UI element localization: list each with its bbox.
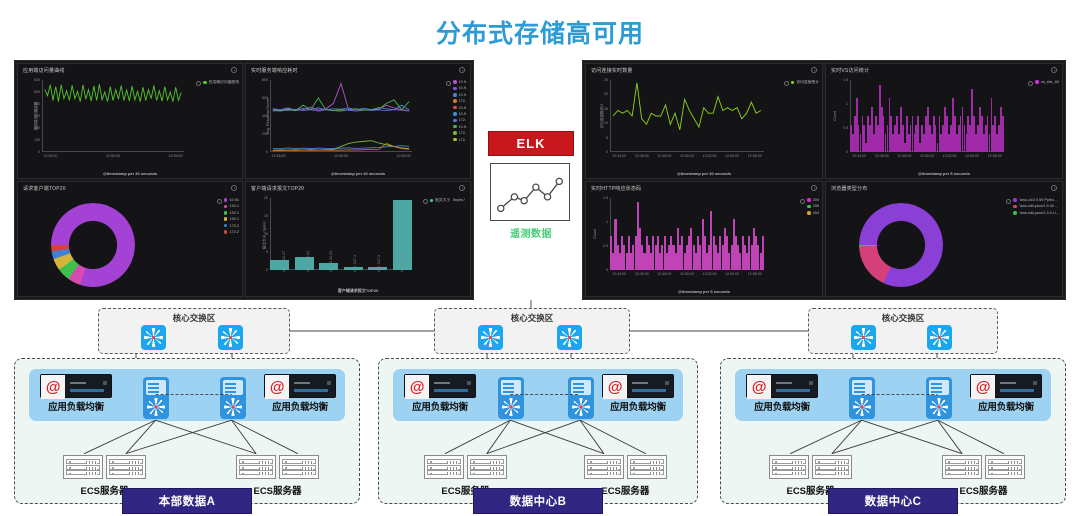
panel-response-time[interactable]: 实时服务端响应耗时 Avg. Response/Server0200400600… xyxy=(245,63,471,179)
datacenter-switch-icon[interactable] xyxy=(849,377,875,419)
x-axis-label: 客户端请求报文TOP20 xyxy=(338,288,379,294)
panel-title: 浏览器类型分布 xyxy=(831,185,867,192)
legend-item[interactable]: 172. xyxy=(453,138,467,142)
legend-swatch xyxy=(791,81,795,85)
gear-icon[interactable] xyxy=(1051,67,1057,73)
y-tick: 25 xyxy=(604,78,608,82)
bar[interactable] xyxy=(295,257,314,270)
load-balancer-label: 应用负载均衡 xyxy=(595,399,681,413)
load-balancer-band: @应用负载均衡@应用负载均衡 xyxy=(735,369,1051,421)
legend-item[interactable]: 192.1 xyxy=(224,204,239,208)
server-rack-icon xyxy=(985,455,1025,479)
x-tick: 12:54:00 xyxy=(965,154,979,158)
legend-swatch xyxy=(224,217,228,221)
legend: 访问连接统计 xyxy=(791,80,819,85)
x-tick: 12:50:00 xyxy=(920,154,934,158)
panel-title: 实时服务端响应耗时 xyxy=(251,67,298,74)
x-tick: 12:54:00 xyxy=(725,272,739,276)
y-tick: 0 xyxy=(606,268,608,272)
load-balancer-band: @应用负载均衡@应用负载均衡 xyxy=(29,369,345,421)
server-rack-icon xyxy=(584,455,624,479)
telemetry-label: 遥测数据 xyxy=(488,225,574,240)
x-tick: 12:44:00 xyxy=(852,154,866,158)
legend-label: 10.9. xyxy=(459,112,467,116)
x-tick: 12:55:00 xyxy=(168,154,182,158)
donut-ring[interactable] xyxy=(859,203,943,287)
panel-connection-count[interactable]: 访问连接实时数量 访问连接数统计051015202512:44:0012:46:… xyxy=(585,63,823,179)
x-tick: 12:50:00 xyxy=(680,272,694,276)
x-tick: 12:56:00 xyxy=(748,154,762,158)
load-balancer-band: @应用负载均衡@应用负载均衡 xyxy=(393,369,683,421)
load-balancer-label: 应用负载均衡 xyxy=(33,399,119,413)
x-tick: 12:45:00 xyxy=(272,154,286,158)
elk-node: ELK 遥测数据 xyxy=(488,131,574,240)
core-zone-title: 核心交换区 xyxy=(435,312,629,324)
y-tick: 10 xyxy=(264,232,268,236)
server-rack-icon xyxy=(424,455,464,479)
core-switch-icon[interactable] xyxy=(218,325,243,350)
x-tick: 12:48:00 xyxy=(657,154,671,158)
x-tick: 12:50:00 xyxy=(106,154,120,158)
server-rack-icon xyxy=(769,455,809,479)
y-tick: 5 xyxy=(266,250,268,254)
legend-swatch xyxy=(807,205,811,209)
load-balancer-node[interactable]: @应用负载均衡 xyxy=(397,374,483,413)
legend-swatch xyxy=(203,81,207,85)
plot-area: Count00.511.512:44:0012:46:0012:48:0012:… xyxy=(610,198,764,270)
core-switch-icon[interactable] xyxy=(141,325,166,350)
legend-item[interactable]: 206 xyxy=(807,204,819,208)
network-diagram: 核心交换区核心交换区核心交换区@应用负载均衡@应用负载均衡ECS服务器ECS服务… xyxy=(0,300,1080,516)
donut-chart xyxy=(836,200,966,290)
core-switch-zone-1: 核心交换区 xyxy=(98,308,290,354)
gear-icon[interactable] xyxy=(811,185,817,191)
y-tick: 1.5 xyxy=(843,78,848,82)
legend: "aws-cli/2.0.59 Pytho..."aws-sdk-java/1.… xyxy=(1013,198,1059,215)
legend-swatch xyxy=(453,99,457,103)
legend-item[interactable]: 172. xyxy=(453,99,467,103)
gear-icon[interactable] xyxy=(231,185,237,191)
legend-item[interactable]: 200 xyxy=(807,198,819,202)
x-tick: 12:52:00 xyxy=(703,272,717,276)
datacenter-switch-icon[interactable] xyxy=(220,377,246,419)
datacenter-switch-icon[interactable] xyxy=(498,377,524,419)
load-balancer-node[interactable]: @应用负载均衡 xyxy=(739,374,825,413)
y-tick: 200 xyxy=(34,126,40,130)
x-tick: 172. 247.3 xyxy=(377,255,381,272)
donut-ring[interactable] xyxy=(51,203,135,287)
legend-item[interactable]: 10.9. xyxy=(453,93,467,97)
server-rack-icon xyxy=(236,455,276,479)
load-balancer-icon: @ xyxy=(970,374,1042,398)
info-icon[interactable] xyxy=(784,81,789,86)
server-racks xyxy=(763,455,859,479)
legend-swatch xyxy=(453,112,457,116)
y-tick: 800 xyxy=(262,78,268,82)
legend-label: 192.1 xyxy=(229,217,239,221)
info-icon[interactable] xyxy=(1006,199,1011,204)
y-axis-label: Count xyxy=(593,229,597,239)
y-tick: 15 xyxy=(604,107,608,111)
panel-client-top20-donut[interactable]: 请求客户端TOP20 10.91192.1192.1192.1172.2172.… xyxy=(17,181,243,297)
legend-item[interactable]: 应用端访问量曲线 xyxy=(203,80,239,85)
datacenter-switch-icon[interactable] xyxy=(926,377,952,419)
y-tick: 1 xyxy=(606,220,608,224)
panel-title: 实时HTTP响应状态码 xyxy=(591,185,641,192)
x-tick: 12:46:00 xyxy=(635,154,649,158)
y-tick: 0.5 xyxy=(603,244,608,248)
panel-client-payload-top20[interactable]: 客户端请求报文TOP20 报文大小（bytes）05101520192.16 2… xyxy=(245,181,471,297)
load-balancer-icon: @ xyxy=(264,374,336,398)
info-icon[interactable] xyxy=(423,199,428,204)
elk-title: ELK xyxy=(488,131,574,156)
vendor-logo: @ xyxy=(747,375,771,399)
x-tick: 12:54:00 xyxy=(725,154,739,158)
legend-label: 10.9. xyxy=(459,86,467,90)
gear-icon[interactable] xyxy=(231,67,237,73)
datacenter-3: @应用负载均衡@应用负载均衡ECS服务器ECS服务器 xyxy=(720,358,1066,504)
server-rack-icon xyxy=(279,455,319,479)
legend-label: 172. xyxy=(459,131,466,135)
line-series xyxy=(42,80,184,152)
legend-label: vs_site_80 xyxy=(1041,80,1059,84)
vendor-logo: @ xyxy=(603,375,627,399)
core-switch-icon[interactable] xyxy=(478,325,503,350)
y-tick: 15 xyxy=(264,214,268,218)
y-tick: 0 xyxy=(266,268,268,272)
x-tick: 12:56:00 xyxy=(748,272,762,276)
legend-item[interactable]: vs_site_80 xyxy=(1035,80,1059,84)
legend-swatch xyxy=(224,230,228,234)
legend-label: 10.9. xyxy=(459,80,467,84)
load-balancer-label: 应用负载均衡 xyxy=(963,399,1049,413)
legend-label: 172. xyxy=(459,118,466,122)
info-icon[interactable] xyxy=(800,199,805,204)
y-tick: 0.5 xyxy=(843,126,848,130)
legend-label: 172.2 xyxy=(229,224,239,228)
x-axis-label: @timestamp per 30 seconds xyxy=(103,171,157,176)
legend-label: 172. xyxy=(459,99,466,103)
line-series xyxy=(610,80,764,152)
gear-icon[interactable] xyxy=(1051,185,1057,191)
panel-title: 访问连接实时数量 xyxy=(591,67,633,74)
core-switch-zone-2: 核心交换区 xyxy=(434,308,630,354)
load-balancer-icon: @ xyxy=(40,374,112,398)
legend-item[interactable]: 10.9. xyxy=(453,112,467,116)
panel-browser-type-donut[interactable]: 浏览器类型分布 "aws-cli/2.0.59 Pytho..."aws-sdk… xyxy=(825,181,1063,297)
y-tick: 400 xyxy=(34,102,40,106)
legend-item[interactable]: 报文大小（bytes） xyxy=(430,198,467,203)
legend: 应用端访问量曲线 xyxy=(203,80,239,85)
server-rack-icon xyxy=(63,455,103,479)
legend: 10.91192.1192.1192.1172.2172.2 xyxy=(224,198,239,234)
y-tick: 5 xyxy=(606,136,608,140)
legend: 报文大小（bytes） xyxy=(430,198,467,203)
datacenter-label: 数据中心C xyxy=(828,488,958,514)
y-tick: 0 xyxy=(606,150,608,154)
load-balancer-icon: @ xyxy=(602,374,674,398)
legend-item[interactable]: 10.9. xyxy=(453,106,467,110)
vendor-logo: @ xyxy=(265,375,289,399)
plot-area: Count00.511.512:44:0012:46:0012:48:0012:… xyxy=(850,80,1004,152)
datacenter-switch-icon[interactable] xyxy=(143,377,169,419)
x-tick: 12:55:00 xyxy=(396,154,410,158)
dashboard-left: 应用端访问量曲线 应用端访问量曲线010020030040050060012:4… xyxy=(14,60,474,300)
y-tick: 20 xyxy=(604,92,608,96)
y-tick: 20 xyxy=(264,196,268,200)
load-balancer-label: 应用负载均衡 xyxy=(397,399,483,413)
legend-label: 206 xyxy=(813,204,819,208)
legend-swatch xyxy=(224,211,228,215)
info-icon[interactable] xyxy=(217,199,222,204)
legend-label: "aws-sdk-java/1.9.40 ... xyxy=(1019,204,1058,208)
legend-label: 200 xyxy=(813,198,819,202)
legend-swatch xyxy=(453,87,457,91)
x-tick: 192.16 21.27 xyxy=(282,251,286,272)
x-tick: 12:48:00 xyxy=(897,154,911,158)
legend-item[interactable]: 10.91 xyxy=(224,198,239,202)
y-tick: 1.5 xyxy=(603,196,608,200)
donut-chart xyxy=(28,200,158,290)
server-racks xyxy=(936,455,1032,479)
legend-item[interactable]: "aws-sdk-java/1.9.40 ... xyxy=(1013,204,1059,208)
load-balancer-icon: @ xyxy=(404,374,476,398)
core-zone-title: 核心交换区 xyxy=(99,312,289,324)
legend-swatch xyxy=(1013,205,1017,209)
info-icon[interactable] xyxy=(1028,81,1033,86)
y-tick: 0 xyxy=(266,150,268,154)
histogram-bar xyxy=(1002,116,1004,152)
server-rack-icon xyxy=(627,455,667,479)
y-axis-label: Count xyxy=(833,111,837,121)
dashboard-right: 访问连接实时数量 访问连接数统计051015202512:44:0012:46:… xyxy=(582,60,1066,300)
y-tick: 10 xyxy=(604,121,608,125)
datacenter-switch-icon[interactable] xyxy=(568,377,594,419)
x-tick: 10.91 3.100 xyxy=(400,253,404,272)
x-tick: 12:50:00 xyxy=(680,154,694,158)
panel-title: 实时VS访问统计 xyxy=(831,67,869,74)
y-tick: 600 xyxy=(34,78,40,82)
legend-item[interactable]: 访问连接统计 xyxy=(791,80,819,85)
server-rack-icon xyxy=(106,455,146,479)
core-switch-icon[interactable] xyxy=(927,325,952,350)
gear-icon[interactable] xyxy=(459,67,465,73)
legend-swatch xyxy=(453,93,457,97)
datacenter-label: 本部数据A xyxy=(122,488,252,514)
x-axis-label: @timestamp per 30 seconds xyxy=(677,171,731,176)
legend-item[interactable]: 10.9. xyxy=(453,86,467,90)
legend-swatch xyxy=(453,131,457,135)
page-title: 分布式存储高可用 xyxy=(0,14,1080,50)
x-axis-label: @timestamp per 5 seconds xyxy=(678,289,730,294)
core-switch-icon[interactable] xyxy=(557,325,582,350)
plot-area: 应用端访问量曲线010020030040050060012:45:0012:50… xyxy=(42,80,184,152)
panel-app-access-line[interactable]: 应用端访问量曲线 应用端访问量曲线010020030040050060012:4… xyxy=(17,63,243,179)
load-balancer-label: 应用负载均衡 xyxy=(257,399,343,413)
server-rack-icon xyxy=(467,455,507,479)
bar-series xyxy=(270,198,412,270)
x-tick: 172. 247.4 xyxy=(353,255,357,272)
core-switch-zone-3: 核心交换区 xyxy=(808,308,998,354)
x-tick: 12:46:00 xyxy=(875,154,889,158)
datacenter-label: 数据中心B xyxy=(473,488,603,514)
info-icon[interactable] xyxy=(196,81,201,86)
legend-item[interactable]: 172.2 xyxy=(224,224,239,228)
legend-label: 10.9. xyxy=(459,106,467,110)
x-tick: 12:45:00 xyxy=(44,154,58,158)
legend-swatch xyxy=(224,198,228,202)
legend-label: 10.9. xyxy=(459,125,467,129)
panel-vs-access-stats[interactable]: 实时VS访问统计 Count00.511.512:44:0012:46:0012… xyxy=(825,63,1063,179)
legend: 10.9.10.9.10.9.172.10.9.10.9.172.10.9.17… xyxy=(453,80,467,142)
histogram-bar xyxy=(762,236,764,270)
datacenter-2: @应用负载均衡@应用负载均衡ECS服务器ECS服务器 xyxy=(378,358,698,504)
server-rack-icon xyxy=(942,455,982,479)
plot-area: 报文大小（bytes）05101520192.16 21.27192.16 21… xyxy=(270,198,412,270)
x-tick: 12:50:00 xyxy=(334,154,348,158)
legend-label: 192.1 xyxy=(229,204,239,208)
legend-label: 10.9. xyxy=(459,93,467,97)
x-tick: 12:56:00 xyxy=(988,154,1002,158)
line-series xyxy=(270,80,412,152)
elk-chart-box xyxy=(490,163,570,221)
server-racks xyxy=(417,455,513,479)
x-tick: 12:52:00 xyxy=(943,154,957,158)
y-tick: 400 xyxy=(262,114,268,118)
plot-area: Avg. Response/Server020040060080012:45:0… xyxy=(270,80,412,152)
legend-swatch xyxy=(430,199,434,203)
legend-swatch xyxy=(224,205,228,209)
vendor-logo: @ xyxy=(971,375,995,399)
legend-label: 404 xyxy=(813,211,819,215)
panel-title: 应用端访问量曲线 xyxy=(23,67,65,74)
legend-item[interactable]: 192.1 xyxy=(224,211,239,215)
vendor-logo: @ xyxy=(405,375,429,399)
x-tick: 12:48:00 xyxy=(657,272,671,276)
legend-item[interactable]: 10.9. xyxy=(453,125,467,129)
gear-icon[interactable] xyxy=(811,67,817,73)
legend-item[interactable]: 172.2 xyxy=(224,230,239,234)
x-tick: 192.16 21.23 xyxy=(329,251,333,272)
legend-label: 应用端访问量曲线 xyxy=(209,80,239,85)
server-racks xyxy=(577,455,673,479)
legend-label: 192.1 xyxy=(229,211,239,215)
y-tick: 600 xyxy=(262,96,268,100)
y-tick: 100 xyxy=(34,138,40,142)
load-balancer-label: 应用负载均衡 xyxy=(739,399,825,413)
legend-swatch xyxy=(453,106,457,110)
x-axis-label: @timestamp per 5 seconds xyxy=(918,171,970,176)
legend-label: "aws-sdk-java/1.9.0 Li... xyxy=(1019,211,1059,215)
legend-item[interactable]: "aws-cli/2.0.59 Pytho... xyxy=(1013,198,1059,202)
x-tick: 12:44:00 xyxy=(612,154,626,158)
legend-item[interactable]: 404 xyxy=(807,211,819,215)
server-racks xyxy=(57,455,153,479)
x-tick: 12:44:00 xyxy=(612,272,626,276)
info-icon[interactable] xyxy=(446,81,451,86)
legend-swatch xyxy=(453,138,457,142)
legend-item[interactable]: 10.9. xyxy=(453,80,467,84)
legend-item[interactable]: 172. xyxy=(453,131,467,135)
gear-icon[interactable] xyxy=(459,185,465,191)
y-tick: 300 xyxy=(34,114,40,118)
legend-label: 10.91 xyxy=(229,198,239,202)
y-tick: 500 xyxy=(34,90,40,94)
panel-title: 客户端请求报文TOP20 xyxy=(251,185,304,192)
load-balancer-node[interactable]: @应用负载均衡 xyxy=(963,374,1049,413)
datacenter-1: @应用负载均衡@应用负载均衡ECS服务器ECS服务器 xyxy=(14,358,360,504)
bar[interactable] xyxy=(270,260,289,270)
legend-swatch xyxy=(807,198,811,202)
legend-swatch xyxy=(224,224,228,228)
load-balancer-node[interactable]: @应用负载均衡 xyxy=(257,374,343,413)
legend-swatch xyxy=(807,211,811,215)
legend-item[interactable]: 172. xyxy=(453,118,467,122)
core-switch-icon[interactable] xyxy=(851,325,876,350)
legend-swatch xyxy=(1013,211,1017,215)
legend-label: 172. xyxy=(459,138,466,142)
legend-item[interactable]: 192.1 xyxy=(224,217,239,221)
load-balancer-node[interactable]: @应用负载均衡 xyxy=(33,374,119,413)
server-rack-icon xyxy=(812,455,852,479)
panel-http-status-codes[interactable]: 实时HTTP响应状态码 Count00.511.512:44:0012:46:0… xyxy=(585,181,823,297)
legend-item[interactable]: "aws-sdk-java/1.9.0 Li... xyxy=(1013,211,1059,215)
x-tick: 12:46:00 xyxy=(635,272,649,276)
vendor-logo: @ xyxy=(41,375,65,399)
legend-swatch xyxy=(1013,198,1017,202)
core-zone-title: 核心交换区 xyxy=(809,312,997,324)
legend-label: 报文大小（bytes） xyxy=(435,198,467,203)
load-balancer-icon: @ xyxy=(746,374,818,398)
legend: 200206404 xyxy=(807,198,819,215)
server-racks xyxy=(230,455,326,479)
legend-label: 访问连接统计 xyxy=(796,80,819,85)
legend-label: 172.2 xyxy=(229,230,239,234)
y-tick: 0 xyxy=(846,150,848,154)
panel-title: 请求客户端TOP20 xyxy=(23,185,66,192)
y-tick: 0 xyxy=(38,150,40,154)
legend-swatch xyxy=(1035,80,1039,84)
legend: vs_site_80 xyxy=(1035,80,1059,84)
load-balancer-node[interactable]: @应用负载均衡 xyxy=(595,374,681,413)
plot-area: 访问连接数统计051015202512:44:0012:46:0012:48:0… xyxy=(610,80,764,152)
legend-label: "aws-cli/2.0.59 Pytho... xyxy=(1019,198,1058,202)
y-tick: 1 xyxy=(846,102,848,106)
x-axis-label: @timestamp per 30 seconds xyxy=(331,171,385,176)
x-tick: 12:52:00 xyxy=(703,154,717,158)
legend-swatch xyxy=(453,119,457,123)
legend-swatch xyxy=(453,80,457,84)
x-tick: 192.16 21.24 xyxy=(306,251,310,272)
legend-swatch xyxy=(453,125,457,129)
y-tick: 200 xyxy=(262,132,268,136)
